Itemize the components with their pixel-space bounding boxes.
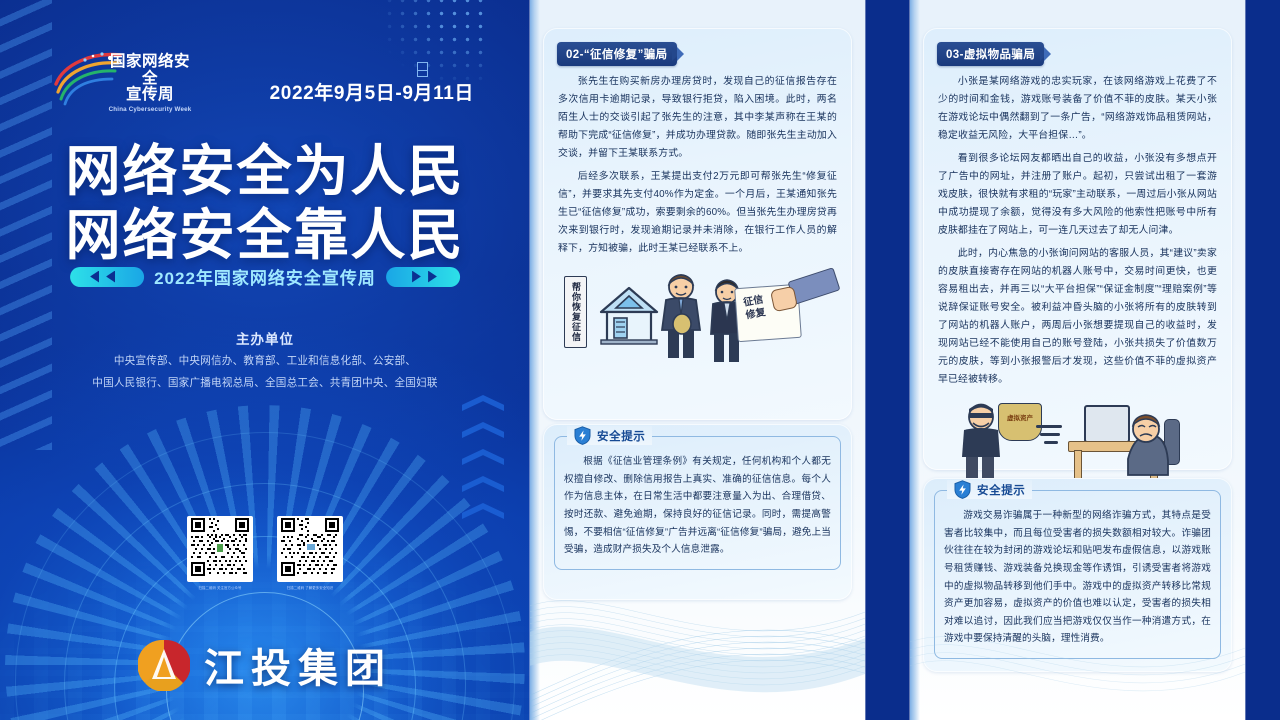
event-date: 2022年9月5日-9月11日 bbox=[270, 78, 474, 105]
slogan-line-2: 网络安全靠人民 bbox=[0, 204, 530, 268]
section-03-paragraph-2: 看到很多论坛网友都晒出自己的收益，小张没有多想点开了广告中的网址，并注册了账户。… bbox=[938, 150, 1217, 240]
section-card-03: 03-虚拟物品骗局 小张是某网络游戏的忠实玩家，在该网络游戏上花费了不少的时间和… bbox=[923, 28, 1232, 470]
small-square-decoration bbox=[417, 62, 428, 77]
tip-text-03: 游戏交易诈骗属于一种新型的网络诈骗方式，其特点是受害者比较集中，而且每位受害者的… bbox=[944, 507, 1211, 648]
right-panel: 03-虚拟物品骗局 小张是某网络游戏的忠实玩家，在该网络游戏上花费了不少的时间和… bbox=[910, 0, 1245, 720]
qr-code-left[interactable] bbox=[187, 516, 253, 582]
section-03-paragraph-3: 此时，内心焦急的小张询问网站的客服人员，其“建议”卖家的皮肤直接寄存在网站的机器… bbox=[938, 245, 1217, 389]
logo-line-2: 宣传周 bbox=[104, 87, 196, 104]
section-card-02: 02-“征信修复”骗局 张先生在购买新房办理房贷时，发现自己的征信报告存在多次信… bbox=[543, 28, 852, 420]
qr-code-right-icon bbox=[281, 518, 339, 576]
motion-line-2 bbox=[1040, 433, 1060, 436]
tip-header-03: 安全提示 bbox=[947, 480, 1032, 499]
badge-chevron-icon bbox=[1042, 47, 1051, 61]
sub-banner-text: 2022年国家网络安全宣传周 bbox=[154, 264, 376, 289]
illustration-document-text: 征信修复 bbox=[743, 294, 767, 322]
tip-card-03: 安全提示 游戏交易诈骗属于一种新型的网络诈骗方式，其特点是受害者比较集中，而且每… bbox=[923, 478, 1232, 672]
qr-code-right[interactable] bbox=[277, 516, 343, 582]
qr-code-right-caption: 扫描二维码 了解更多安全知识 bbox=[277, 585, 343, 590]
house-icon bbox=[598, 284, 660, 346]
tip-title-03: 安全提示 bbox=[977, 482, 1025, 498]
motion-line-3 bbox=[1044, 441, 1058, 444]
illustration-virtual-goods-scam: 虚拟资产 bbox=[938, 399, 1217, 487]
shield-icon bbox=[954, 480, 971, 499]
slogan-line-1: 网络安全为人民 bbox=[0, 140, 530, 204]
illustration-sign: 帮你恢复征信 bbox=[564, 276, 587, 348]
sub-banner: 2022年国家网络安全宣传周 bbox=[70, 264, 460, 289]
organizer-line-1: 中央宣传部、中央网信办、教育部、工业和信息化部、公安部、 bbox=[0, 353, 530, 370]
virtual-asset-bag-text: 虚拟资产 bbox=[999, 412, 1041, 422]
banner-arrow-right-icon bbox=[386, 267, 460, 287]
banner-arrow-left-icon bbox=[70, 267, 144, 287]
poster-collage: 国家网络安全 宣传周 China Cybersecurity Week 2022… bbox=[0, 0, 1280, 720]
qr-code-left-item[interactable]: 扫描二维码 关注官方公众号 bbox=[187, 516, 253, 590]
chevron-arrows-decoration bbox=[462, 395, 508, 520]
logo-english: China Cybersecurity Week bbox=[104, 107, 196, 114]
tip-inner-03: 安全提示 游戏交易诈骗属于一种新型的网络诈骗方式，其特点是受害者比较集中，而且每… bbox=[934, 490, 1221, 659]
slogan-block: 网络安全为人民 网络安全靠人民 bbox=[0, 140, 530, 268]
virtual-asset-bag: 虚拟资产 bbox=[998, 403, 1042, 441]
section-badge-02: 02-“征信修复”骗局 bbox=[557, 42, 684, 66]
qr-code-group: 扫描二维码 关注官方公众号 bbox=[0, 516, 530, 590]
logo-line-1: 国家网络安全 bbox=[104, 54, 196, 87]
section-03-paragraph-1: 小张是某网络游戏的忠实玩家，在该网络游戏上花费了不少的时间和金钱，游戏账号装备了… bbox=[938, 73, 1217, 145]
tip-header-02: 安全提示 bbox=[567, 426, 652, 445]
sad-gamer-figure-icon bbox=[1124, 413, 1172, 483]
organizer-line-2: 中国人民银行、国家广播电视总局、全国总工会、共青团中央、全国妇联 bbox=[0, 375, 530, 392]
section-badge-03-label: 03-虚拟物品骗局 bbox=[937, 42, 1044, 66]
organizer-block: 主办单位 中央宣传部、中央网信办、教育部、工业和信息化部、公安部、 中国人民银行… bbox=[0, 328, 530, 393]
illustration-credit-repair-scam: 帮你恢复征信 bbox=[558, 268, 837, 360]
brand-block: 江投集团 bbox=[0, 636, 530, 694]
panel-gap-1 bbox=[865, 0, 910, 720]
qr-code-left-caption: 扫描二维码 关注官方公众号 bbox=[187, 585, 253, 590]
section-badge-02-label: 02-“征信修复”骗局 bbox=[557, 42, 677, 66]
illustration-sign-text: 帮你恢复征信 bbox=[571, 282, 580, 342]
section-02-paragraph-1: 张先生在购买新房办理房贷时，发现自己的征信报告存在多次信用卡逾期记录，导致银行拒… bbox=[558, 73, 837, 163]
tip-inner-02: 安全提示 根据《征信业管理条例》有关规定，任何机构和个人都无权擅自修改、删除信用… bbox=[554, 436, 841, 570]
motion-line-1 bbox=[1036, 425, 1062, 428]
cybersecurity-week-logo: 国家网络安全 宣传周 China Cybersecurity Week bbox=[52, 48, 192, 110]
tip-title-02: 安全提示 bbox=[597, 428, 645, 444]
illustration-hand bbox=[770, 285, 798, 312]
brand-logo-icon bbox=[138, 639, 190, 691]
left-poster: 国家网络安全 宣传周 China Cybersecurity Week 2022… bbox=[0, 0, 530, 720]
section-02-paragraph-2: 后经多次联系，王某提出支付2万元即可帮张先生“修复征信”，并要求其先支付40%作… bbox=[558, 168, 837, 258]
section-badge-03: 03-虚拟物品骗局 bbox=[937, 42, 1051, 66]
tip-card-02: 安全提示 根据《征信业管理条例》有关规定，任何机构和个人都无权擅自修改、删除信用… bbox=[543, 424, 852, 600]
organizer-title: 主办单位 bbox=[0, 328, 530, 348]
shield-icon bbox=[574, 426, 591, 445]
scammer-figure-icon bbox=[658, 272, 704, 360]
middle-panel: 02-“征信修复”骗局 张先生在购买新房办理房贷时，发现自己的征信报告存在多次信… bbox=[530, 0, 865, 720]
badge-chevron-icon bbox=[675, 47, 684, 61]
tip-text-02: 根据《征信业管理条例》有关规定，任何机构和个人都无权擅自修改、删除信用报告上真实… bbox=[564, 453, 831, 559]
qr-code-right-item[interactable]: 扫描二维码 了解更多安全知识 bbox=[277, 516, 343, 590]
brand-name: 江投集团 bbox=[204, 636, 392, 694]
qr-code-left-icon bbox=[191, 518, 249, 576]
panel-gap-2 bbox=[1245, 0, 1280, 720]
